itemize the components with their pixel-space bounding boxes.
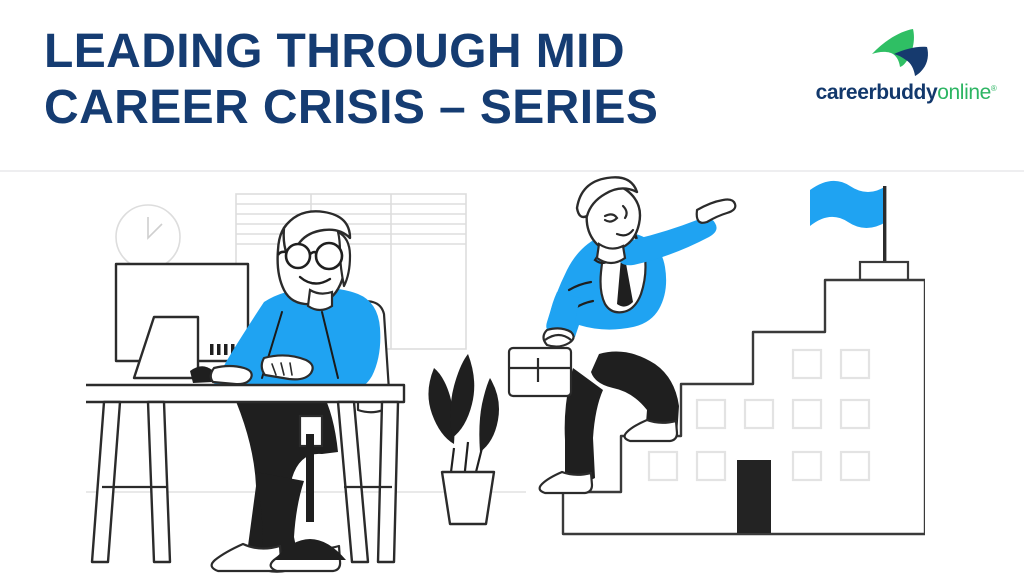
logo-wordmark: careerbuddyonline®	[810, 76, 1002, 106]
illustration-climbing-to-goal	[505, 172, 925, 574]
logo-wordmark-secondary: online	[937, 81, 991, 104]
logo-registered-mark: ®	[991, 84, 997, 93]
page-title-line-1: LEADING THROUGH MID	[44, 24, 724, 80]
page-title-line-2: CAREER CRISIS – SERIES	[44, 80, 724, 136]
page-title: LEADING THROUGH MID CAREER CRISIS – SERI…	[44, 24, 724, 136]
logo-wordmark-primary: careerbuddy	[816, 81, 938, 104]
illustration-area	[0, 172, 1024, 574]
header-bar: LEADING THROUGH MID CAREER CRISIS – SERI…	[0, 0, 1024, 170]
illustration-man-at-desk	[86, 172, 526, 574]
brand-logo[interactable]: careerbuddyonline®	[810, 24, 1002, 110]
slide-canvas: LEADING THROUGH MID CAREER CRISIS – SERI…	[0, 0, 1024, 574]
logo-bird-icon	[865, 24, 945, 76]
